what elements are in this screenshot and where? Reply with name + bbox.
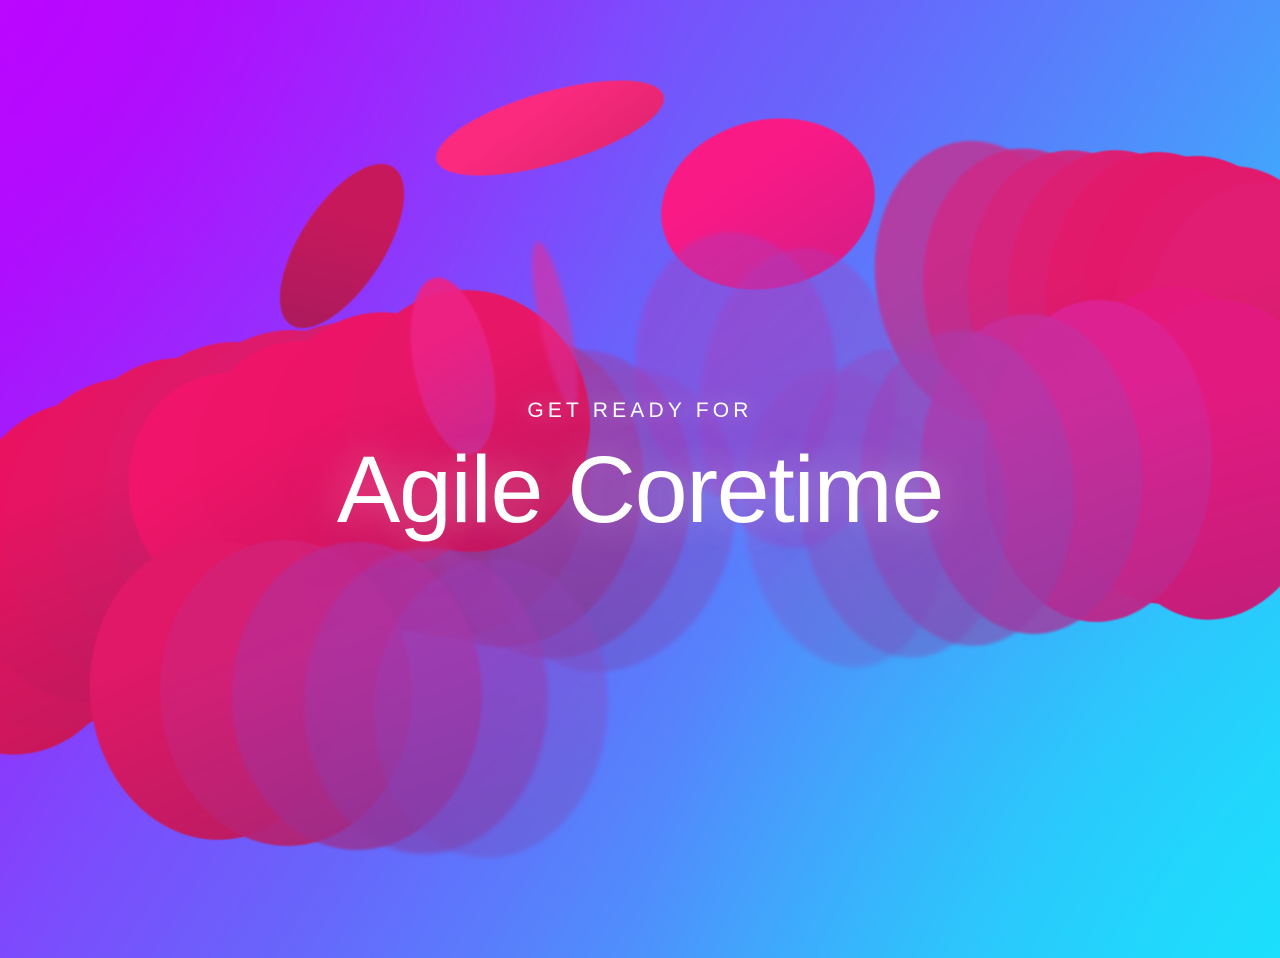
hero-headline: Agile Coretime [0, 436, 1280, 544]
hero-eyebrow: GET READY FOR [0, 398, 1280, 424]
hero-content: GET READY FOR Agile Coretime [0, 398, 1280, 544]
decorative-ellipse [427, 61, 674, 195]
hero-banner: GET READY FOR Agile Coretime [0, 0, 1280, 958]
